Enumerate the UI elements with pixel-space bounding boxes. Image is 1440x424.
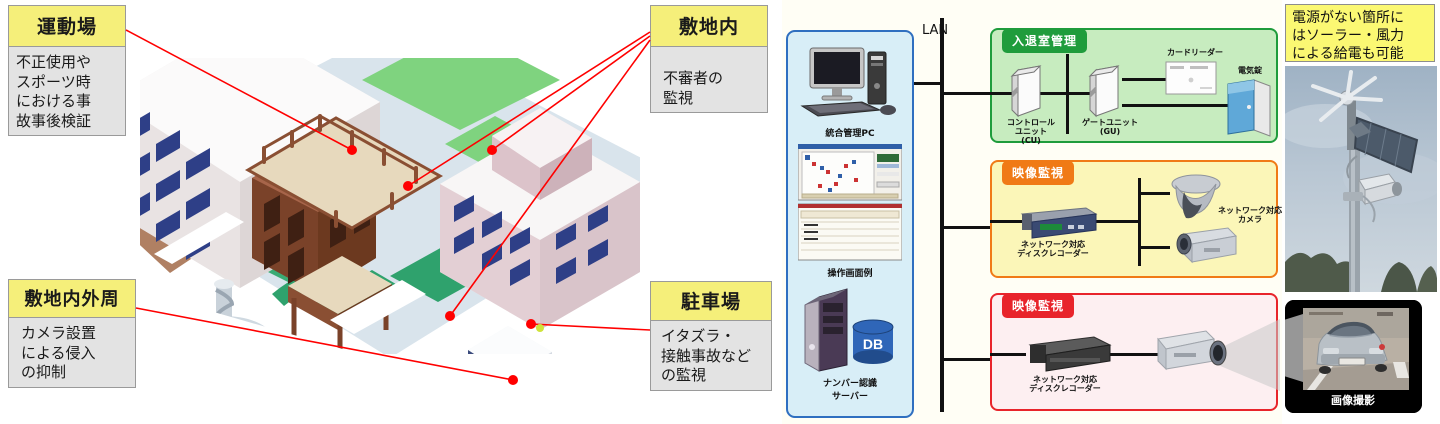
operation-screen-label: 操作画面例	[788, 266, 912, 279]
network-disc-recorder-label: ネットワーク対応 ディスクレコーダー	[998, 240, 1108, 258]
card-reader-label: カードリーダー	[1160, 48, 1230, 57]
system-diagram: 統合管理PC	[782, 0, 1282, 424]
lan-branch-video1	[940, 226, 996, 229]
callout-sports-title: 運動場	[9, 6, 125, 47]
callout-parking-body: イタズラ・ 接触事故など の監視	[651, 321, 771, 390]
lan-branch-video2	[940, 358, 996, 361]
callout-perimeter-title: 敷地内外周	[9, 280, 135, 318]
lan-branch-access	[940, 92, 996, 95]
network-disc-recorder-label: ネットワーク対応 ディスクレコーダー	[1010, 375, 1120, 393]
control-unit-label: コントロール ユニット (CU)	[1000, 118, 1062, 146]
zone-access-control-title: 入退室管理	[1002, 29, 1087, 53]
gate-unit-label: ゲートユニット (GU)	[1078, 118, 1142, 136]
zone-video-monitoring-network-title: 映像監視	[1002, 161, 1074, 185]
captured-car-photo-frame: 画像撮影	[1285, 300, 1422, 413]
desktop-pc-icon	[788, 40, 916, 126]
callout-site-body: 不審者の 監視	[651, 47, 767, 112]
lan-branch-pc	[914, 82, 944, 85]
callout-sports: 運動場 不正使用や スポーツ時 における事 故事後検証	[8, 5, 126, 136]
campus-isometric-illustration	[140, 58, 640, 363]
lan-label: LAN	[922, 23, 948, 38]
callout-perimeter-body: カメラ設置 による侵入 の抑制	[9, 318, 135, 387]
network-camera-label: ネットワーク対応 カメラ	[1218, 206, 1282, 224]
network-disc-recorder-icon	[1020, 331, 1116, 375]
callout-site: 敷地内 不審者の 監視	[650, 5, 768, 113]
captured-car-caption: 画像撮影	[1331, 393, 1375, 407]
operation-screen-examples	[798, 144, 902, 262]
callout-parking-title: 駐車場	[651, 282, 771, 321]
control-unit-icon	[1010, 64, 1050, 122]
network-disc-recorder-icon	[1014, 200, 1100, 240]
zone-access-control: 入退室管理 コントロール ユニット (CU) ゲートユニッ	[990, 28, 1278, 143]
callout-site-title: 敷地内	[651, 6, 767, 47]
callout-perimeter: 敷地内外周 カメラ設置 による侵入 の抑制	[8, 279, 136, 388]
electric-lock-label: 電気錠	[1228, 66, 1272, 75]
wire-to-dome-camera	[1138, 192, 1170, 195]
management-pc-panel: 統合管理PC	[786, 30, 914, 418]
box-camera-icon	[1164, 224, 1244, 270]
callout-parking: 駐車場 イタズラ・ 接触事故など の監視	[650, 281, 772, 391]
management-pc-label: 統合管理PC	[788, 126, 912, 139]
solar-wind-camera-pole-photo	[1285, 66, 1437, 292]
callout-sports-body: 不正使用や スポーツ時 における事 故事後検証	[9, 47, 125, 135]
gate-unit-icon	[1088, 64, 1128, 122]
electric-lock-door-icon	[1224, 78, 1276, 138]
screenshot-root: 運動場 不正使用や スポーツ時 における事 故事後検証 敷地内 不審者の 監視 …	[0, 0, 1440, 424]
wire-gu-to-reader	[1122, 78, 1166, 81]
power-supply-note: 電源がない箇所に はソーラー・風力 による給電も可能	[1285, 4, 1435, 62]
card-reader-icon	[1164, 60, 1220, 98]
db-label: DB	[863, 336, 883, 352]
wire-recorder-out	[1094, 220, 1140, 223]
captured-car-photo	[1303, 308, 1409, 390]
dome-camera-icon	[1168, 172, 1224, 220]
number-recognition-server-label: ナンバー認識 サーバー	[788, 376, 912, 402]
number-recognition-server-icon: DB	[795, 287, 905, 373]
capture-camera-icon	[1152, 313, 1282, 399]
wire-gu-to-lock	[1122, 104, 1232, 107]
zone-video-monitoring-capture: 映像監視 ネットワーク対応 ディスクレコーダー	[990, 293, 1278, 411]
zone-video-monitoring-capture-title: 映像監視	[1002, 294, 1074, 318]
lan-vertical-trunk	[940, 18, 944, 412]
zone-video-monitoring-network: 映像監視 ネットワーク対応 ディスクレコーダー ネット	[990, 160, 1278, 278]
